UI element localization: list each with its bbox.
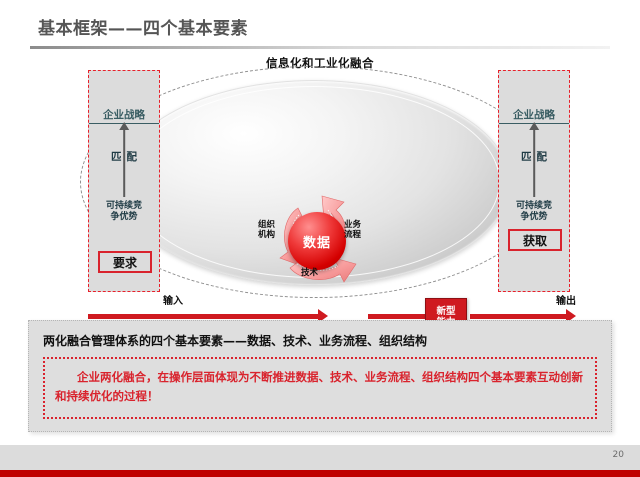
title-divider <box>30 46 610 49</box>
label-organization: 组织 机构 <box>258 220 275 240</box>
label-business-line1: 业务 <box>344 220 361 230</box>
left-cta-box: 要求 <box>98 251 152 273</box>
right-advantage-label: 可持续竞 争优势 <box>499 201 569 223</box>
capability-line1: 新型 <box>436 306 455 317</box>
framework-diagram: 信息化和工业化融合 企业战略 匹配 可持续竞 争优势 要求 企业战略 匹配 可持… <box>0 52 640 314</box>
right-advantage-line2: 争优势 <box>520 212 547 222</box>
label-technology: 技术 <box>301 268 318 278</box>
right-strategy-box: 企业战略 匹配 可持续竞 争优势 获取 <box>498 70 570 292</box>
label-organization-line2: 机构 <box>258 230 275 240</box>
highlight-box: 企业两化融合，在操作层面体现为不断推进数据、技术、业务流程、组织结构四个基本要素… <box>43 357 597 419</box>
label-organization-line1: 组织 <box>258 220 275 230</box>
left-match-label: 匹配 <box>89 149 159 164</box>
left-advantage-line1: 可持续竞 <box>106 201 142 211</box>
summary-heading: 两化融合管理体系的四个基本要素——数据、技术、业务流程、组织结构 <box>43 332 427 349</box>
right-match-label: 匹配 <box>499 149 569 164</box>
input-arrow-bar <box>88 314 320 319</box>
right-advantage-line1: 可持续竞 <box>516 201 552 211</box>
label-business-process: 业务 流程 <box>344 220 361 240</box>
right-cta-box: 获取 <box>508 229 562 251</box>
output-label: 输出 <box>556 292 576 307</box>
data-core-circle: 数据 <box>288 212 346 270</box>
page-number: 20 <box>613 450 624 460</box>
highlight-text: 企业两化融合，在操作层面体现为不断推进数据、技术、业务流程、组织结构四个基本要素… <box>55 368 589 406</box>
output-arrow-bar <box>470 314 570 319</box>
footer-bar <box>0 445 640 470</box>
label-business-line2: 流程 <box>344 230 361 240</box>
left-advantage-line2: 争优势 <box>110 212 137 222</box>
left-strategy-box: 企业战略 匹配 可持续竞 争优势 要求 <box>88 70 160 292</box>
left-advantage-label: 可持续竞 争优势 <box>89 201 159 223</box>
mid-arrow-bar <box>368 314 428 319</box>
footer-accent-bar <box>0 470 640 477</box>
input-label: 输入 <box>163 292 183 307</box>
summary-panel: 两化融合管理体系的四个基本要素——数据、技术、业务流程、组织结构 企业两化融合，… <box>28 320 612 432</box>
page-title: 基本框架——四个基本要素 <box>38 14 248 39</box>
